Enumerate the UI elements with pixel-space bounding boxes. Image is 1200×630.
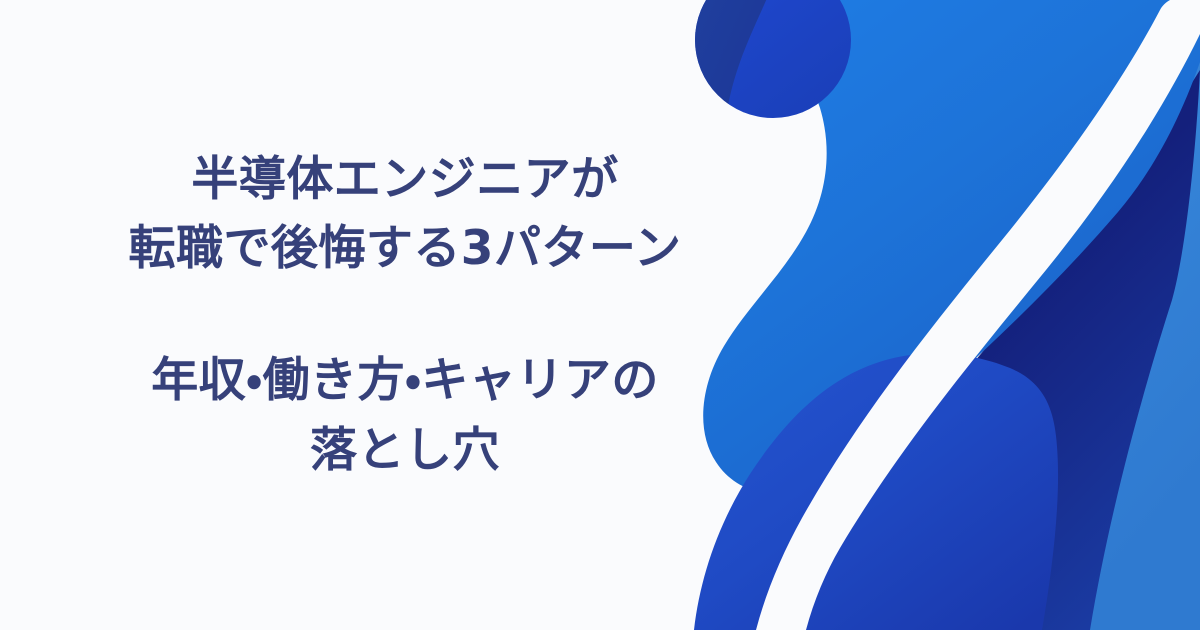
og-card: 半導体エンジニアが 転職で後悔する3パターン 年収・働き方・キャリアの 落とし穴 xyxy=(0,0,1200,630)
white-diagonal-stripe xyxy=(756,0,1200,630)
subtitle: 年収・働き方・キャリアの 落とし穴 xyxy=(26,346,784,485)
subtitle-line-1: 年収・働き方・キャリアの xyxy=(26,346,784,416)
navy-wedge xyxy=(790,70,1200,630)
title-line-1: 半導体エンジニアが xyxy=(26,145,784,215)
headline-block: 半導体エンジニアが 転職で後悔する3パターン 年収・働き方・キャリアの 落とし穴 xyxy=(0,0,810,630)
right-light-blue-panel xyxy=(880,0,1200,630)
title-line-2: 転職で後悔する3パターン xyxy=(26,214,784,284)
main-title: 半導体エンジニアが 転職で後悔する3パターン xyxy=(26,145,784,284)
subtitle-line-2: 落とし穴 xyxy=(26,416,784,486)
